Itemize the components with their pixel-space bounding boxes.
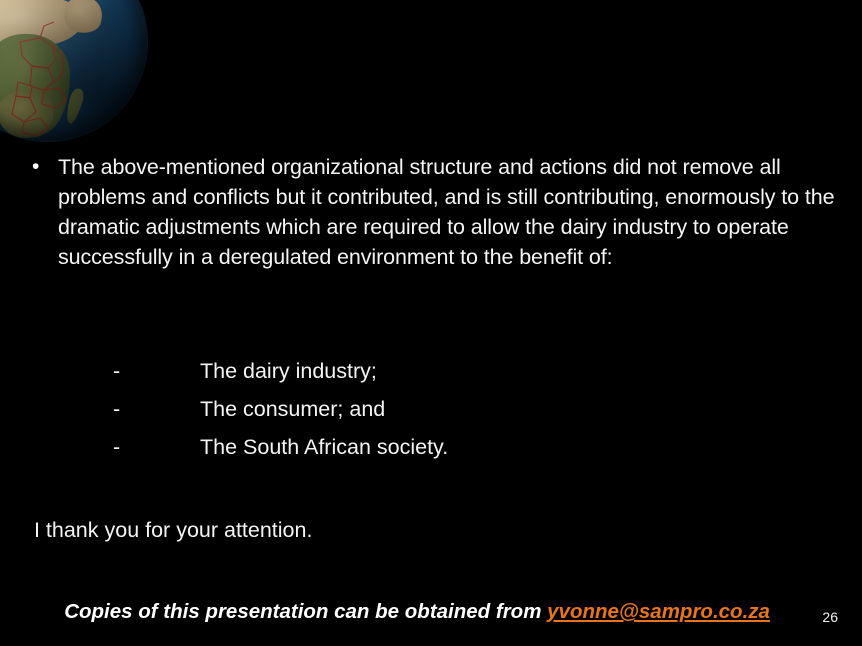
- globe-earth-africa-icon: [0, 0, 148, 142]
- email-link[interactable]: yvonne@sampro.co.za: [547, 600, 770, 623]
- dash-marker: -: [0, 390, 200, 428]
- list-item: - The South African society.: [0, 428, 862, 466]
- sub-item-list: - The dairy industry; - The consumer; an…: [0, 352, 862, 466]
- globe-country-borders: [0, 0, 148, 142]
- list-item-label: The dairy industry;: [200, 352, 862, 390]
- dash-marker: -: [0, 352, 200, 390]
- bullet-dot-icon: •: [28, 152, 58, 182]
- presentation-slide: • The above-mentioned organizational str…: [0, 0, 862, 646]
- contact-line: Copies of this presentation can be obtai…: [30, 567, 770, 646]
- paragraph-text: The above-mentioned organizational struc…: [58, 152, 840, 272]
- dash-marker: -: [0, 428, 200, 466]
- closing-thanks-text: I thank you for your attention.: [28, 515, 312, 545]
- contact-prefix-text: Copies of this presentation can be obtai…: [64, 600, 547, 623]
- list-item-label: The South African society.: [200, 428, 862, 466]
- list-item: - The dairy industry;: [0, 352, 862, 390]
- list-item-label: The consumer; and: [200, 390, 862, 428]
- main-bullet-paragraph: • The above-mentioned organizational str…: [28, 152, 840, 272]
- list-item: - The consumer; and: [0, 390, 862, 428]
- slide-number: 26: [822, 608, 838, 626]
